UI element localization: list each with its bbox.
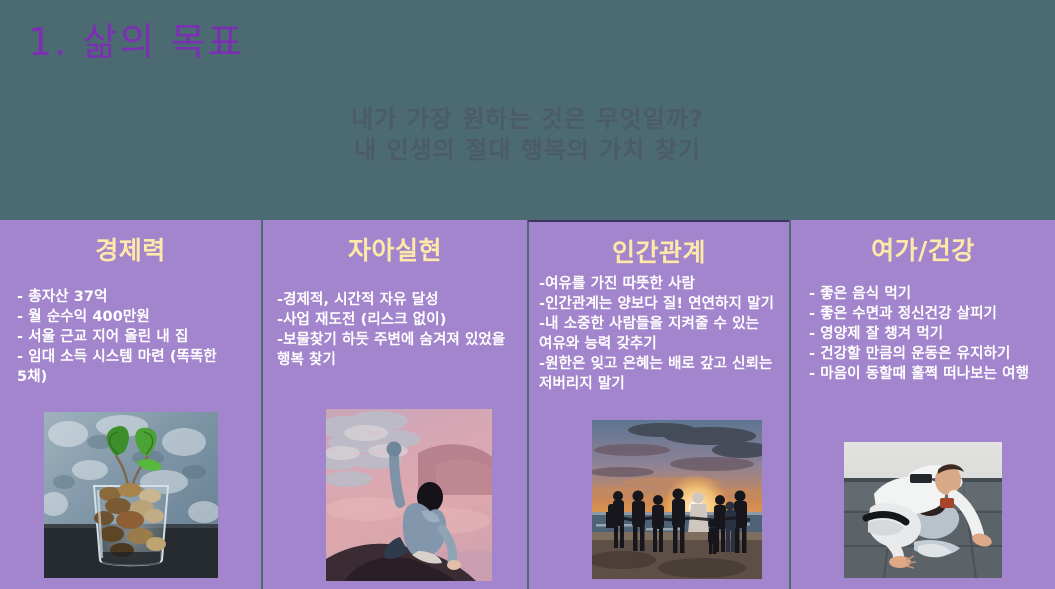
subtitle-line-2: 내 인생의 절대 행복의 가치 찾기: [0, 135, 1055, 166]
coins-in-jar-with-sprout-photo: [44, 412, 218, 578]
column-heading-leisure-health: 여가/건강: [791, 236, 1055, 266]
list-item: -사업 재도전 (리스크 없이): [277, 310, 513, 330]
jiu-jitsu-grappling-photo: [844, 442, 1002, 578]
list-item: - 좋은 수면과 정신건강 살피기: [809, 304, 1043, 324]
list-item: - 임대 소득 시스템 마련 (똑똑한 5채): [17, 347, 247, 387]
list-item: - 건강할 만큼의 운동은 유지하기: [809, 344, 1043, 364]
list-item: -여유를 가진 따뜻한 사람: [539, 274, 779, 294]
group-holding-hands-at-sunset-photo: [592, 420, 762, 579]
person-on-mountain-raised-fist-photo: [326, 409, 492, 581]
list-item: -원한은 잊고 은혜는 배로 갚고 신뢰는 저버리지 말기: [539, 354, 779, 394]
list-item: - 영양제 잘 챙겨 먹기: [809, 324, 1043, 344]
list-item: - 서울 근교 지어 올린 내 집: [17, 327, 247, 347]
presentation-slide: 1. 삶의 목표 내가 가장 원하는 것은 무엇일까? 내 인생의 절대 행복의…: [0, 0, 1055, 589]
column-heading-relationships: 인간관계: [529, 238, 789, 268]
list-item: -경제적, 시간적 자유 달성: [277, 290, 513, 310]
subtitle-line-1: 내가 가장 원하는 것은 무엇일까?: [0, 104, 1055, 135]
column-heading-self-realization: 자아실현: [263, 236, 527, 266]
list-item: - 좋은 음식 먹기: [809, 284, 1043, 304]
column-body-self-realization: -경제적, 시간적 자유 달성 -사업 재도전 (리스크 없이) -보물찾기 하…: [277, 290, 513, 370]
column-heading-economy: 경제력: [0, 236, 261, 266]
list-item: -내 소중한 사람들을 지켜줄 수 있는 여유와 능력 갖추기: [539, 314, 779, 354]
slide-subtitle: 내가 가장 원하는 것은 무엇일까? 내 인생의 절대 행복의 가치 찾기: [0, 104, 1055, 166]
list-item: -보물찾기 하듯 주변에 숨겨져 있었을 행복 찾기: [277, 330, 513, 370]
list-item: - 월 순수익 400만원: [17, 307, 247, 327]
list-item: - 마음이 동할때 훌쩍 떠나보는 여행: [809, 364, 1043, 384]
column-body-economy: - 총자산 37억 - 월 순수익 400만원 - 서울 근교 지어 올린 내 …: [17, 287, 247, 387]
list-item: - 총자산 37억: [17, 287, 247, 307]
page-title: 1. 삶의 목표: [28, 11, 244, 66]
column-body-leisure-health: - 좋은 음식 먹기 - 좋은 수면과 정신건강 살피기 - 영양제 잘 챙겨 …: [809, 284, 1043, 384]
column-body-relationships: -여유를 가진 따뜻한 사람 -인간관계는 양보다 질! 연연하지 말기 -내 …: [539, 274, 779, 394]
list-item: -인간관계는 양보다 질! 연연하지 말기: [539, 294, 779, 314]
